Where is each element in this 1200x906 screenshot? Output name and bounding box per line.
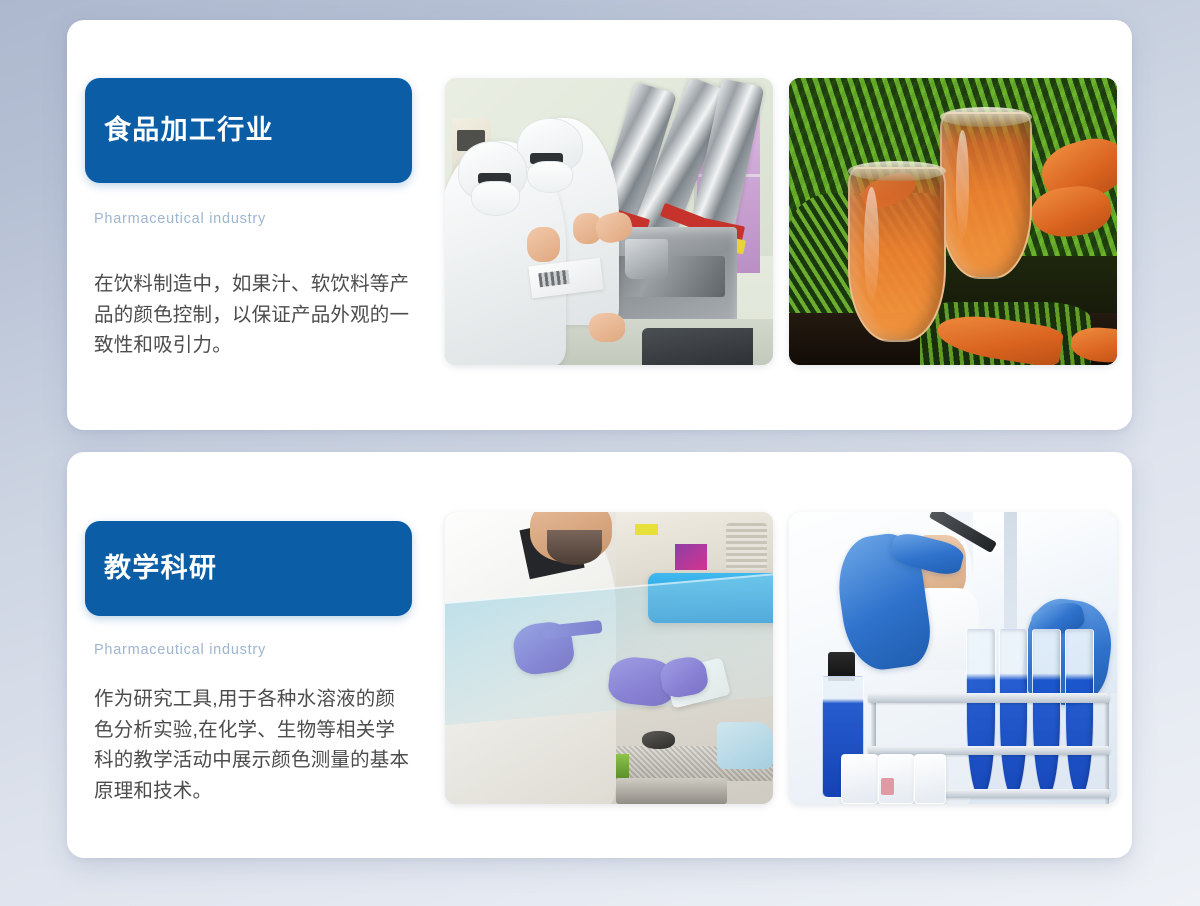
- glass-rim-back: [940, 107, 1032, 127]
- test-tube-4: [1065, 629, 1095, 798]
- card-image-column: [445, 452, 1132, 858]
- sample-vial-1: [841, 754, 877, 804]
- rack-bar-top: [868, 693, 1111, 703]
- card-description: 作为研究工具,用于各种水溶液的颜色分析实验,在化学、生物等相关学科的教学活动中展…: [94, 684, 414, 806]
- scientist-beard: [547, 530, 603, 565]
- juice-glass-back: [940, 112, 1032, 278]
- card-title-badge[interactable]: 食品加工行业: [85, 78, 412, 183]
- pink-sample: [881, 778, 894, 796]
- industry-card-teaching-research[interactable]: 教学科研 Pharmaceutical industry 作为研究工具,用于各种…: [67, 452, 1132, 858]
- card-subtitle: Pharmaceutical industry: [94, 642, 445, 658]
- test-tube-1: [966, 629, 996, 798]
- laboratory-scientist-photo[interactable]: [445, 512, 773, 804]
- yellow-label: [635, 524, 658, 536]
- machine-hopper: [625, 239, 668, 279]
- machine-console: [642, 328, 754, 365]
- test-tubes-photo[interactable]: [789, 512, 1117, 804]
- face-mask-front: [471, 181, 520, 215]
- page-container: 食品加工行业 Pharmaceutical industry 在饮料制造中，如果…: [0, 0, 1200, 906]
- steel-rail: [616, 778, 728, 804]
- plastic-jug: [717, 722, 773, 769]
- face-mask-back: [527, 161, 573, 193]
- card-title-label: 教学科研: [104, 555, 217, 582]
- test-tube-2: [999, 629, 1029, 798]
- card-text-column: 食品加工行业 Pharmaceutical industry 在饮料制造中，如果…: [67, 20, 445, 430]
- food-processing-plant-photo[interactable]: [445, 78, 773, 365]
- card-text-column: 教学科研 Pharmaceutical industry 作为研究工具,用于各种…: [67, 452, 445, 858]
- photo-scene: [445, 78, 773, 365]
- test-tube-3: [1032, 629, 1062, 798]
- card-image-column: [445, 20, 1132, 430]
- card-title-badge[interactable]: 教学科研: [85, 521, 412, 616]
- hand-4: [589, 313, 625, 342]
- card-subtitle: Pharmaceutical industry: [94, 211, 445, 227]
- green-vials: [616, 754, 629, 777]
- carrot-juice-photo[interactable]: [789, 78, 1117, 365]
- card-title-label: 食品加工行业: [104, 117, 274, 144]
- photo-scene: [445, 512, 773, 804]
- hand-1: [527, 227, 560, 261]
- sample-vial-3: [914, 754, 947, 804]
- industry-card-food-processing[interactable]: 食品加工行业 Pharmaceutical industry 在饮料制造中，如果…: [67, 20, 1132, 430]
- photo-scene: [789, 78, 1117, 365]
- reagent-box: [675, 544, 708, 570]
- photo-scene: [789, 512, 1117, 804]
- card-description: 在饮料制造中，如果汁、软饮料等产品的颜色控制，以保证产品外观的一致性和吸引力。: [94, 269, 414, 361]
- computer-mouse: [642, 731, 675, 749]
- juice-glass-front: [848, 167, 946, 342]
